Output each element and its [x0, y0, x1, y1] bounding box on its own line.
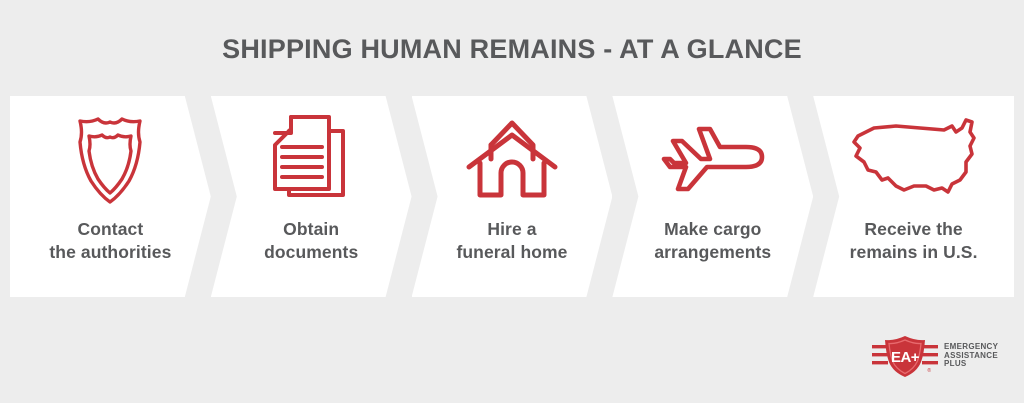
ea-plus-monogram: EA+ [891, 349, 920, 366]
brand-line-3: PLUS [944, 360, 998, 369]
steps-band: Contact the authorities Obt [10, 96, 1014, 297]
police-badge-shield-icon [10, 96, 211, 218]
step-contact-the-authorities: Contact the authorities [10, 96, 211, 297]
step-make-cargo-arrangements: Make cargo arrangements [612, 96, 813, 297]
funeral-home-icon [412, 96, 613, 218]
brand-logo[interactable]: EA+ ® EMERGENCY ASSISTANCE PLUS [872, 333, 1008, 379]
step-hire-a-funeral-home: Hire a funeral home [412, 96, 613, 297]
step-label: Obtain documents [264, 218, 358, 264]
usa-map-icon [813, 96, 1014, 218]
brand-name: EMERGENCY ASSISTANCE PLUS [944, 343, 998, 370]
step-receive-the-remains-in-us: Receive the remains in U.S. [813, 96, 1014, 297]
step-label: Make cargo arrangements [654, 218, 771, 264]
ea-plus-shield-icon: EA+ ® [872, 334, 938, 378]
step-label: Contact the authorities [49, 218, 171, 264]
documents-icon [211, 96, 412, 218]
trademark-symbol: ® [927, 368, 931, 374]
step-label: Hire a funeral home [456, 218, 567, 264]
page-title: SHIPPING HUMAN REMAINS - AT A GLANCE [0, 34, 1024, 65]
step-label: Receive the remains in U.S. [850, 218, 978, 264]
step-obtain-documents: Obtain documents [211, 96, 412, 297]
airplane-icon [612, 96, 813, 218]
